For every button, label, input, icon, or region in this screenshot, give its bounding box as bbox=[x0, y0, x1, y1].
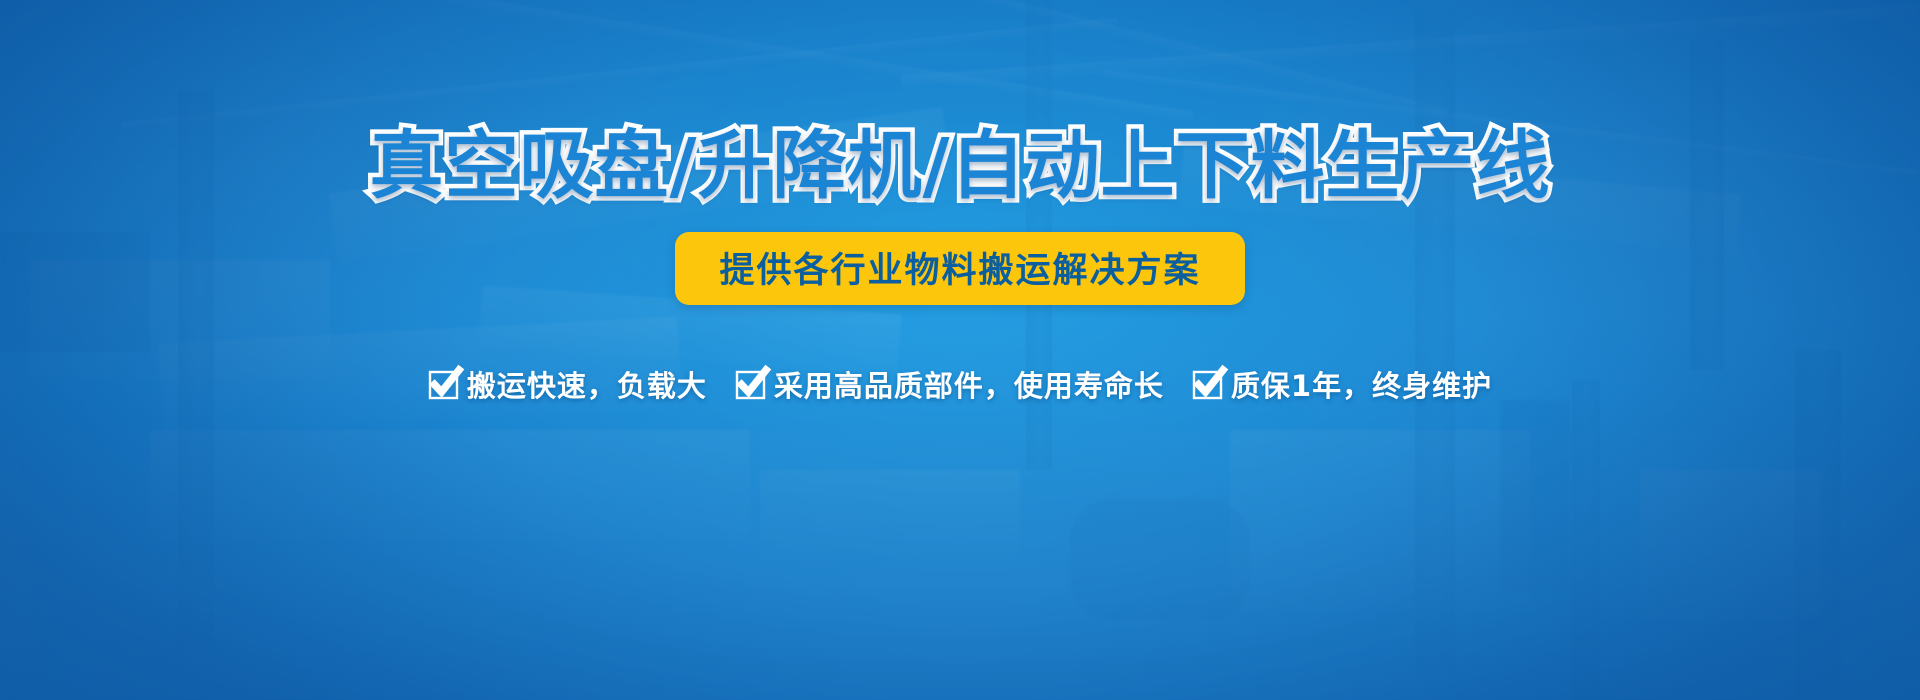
banner-content: 真空吸盘/升降机/自动上下料生产线 提供各行业物料搬运解决方案 搬运快速，负载大 bbox=[0, 0, 1920, 700]
check-box-icon bbox=[428, 367, 461, 400]
feature-list: 搬运快速，负载大 采用高品质部件，使用寿命长 bbox=[428, 363, 1492, 405]
feature-item: 质保1年，终身维护 bbox=[1192, 363, 1492, 405]
feature-label: 质保1年，终身维护 bbox=[1231, 363, 1492, 405]
check-box-icon bbox=[735, 367, 768, 400]
feature-label: 采用高品质部件，使用寿命长 bbox=[774, 363, 1164, 405]
check-box-icon bbox=[1192, 367, 1225, 400]
feature-item: 搬运快速，负载大 bbox=[428, 363, 707, 405]
feature-label: 搬运快速，负载大 bbox=[467, 363, 707, 405]
page-title: 真空吸盘/升降机/自动上下料生产线 bbox=[369, 128, 1550, 206]
hero-banner: 真空吸盘/升降机/自动上下料生产线 提供各行业物料搬运解决方案 搬运快速，负载大 bbox=[0, 0, 1920, 700]
tagline-badge: 提供各行业物料搬运解决方案 bbox=[675, 232, 1244, 305]
feature-item: 采用高品质部件，使用寿命长 bbox=[735, 363, 1164, 405]
